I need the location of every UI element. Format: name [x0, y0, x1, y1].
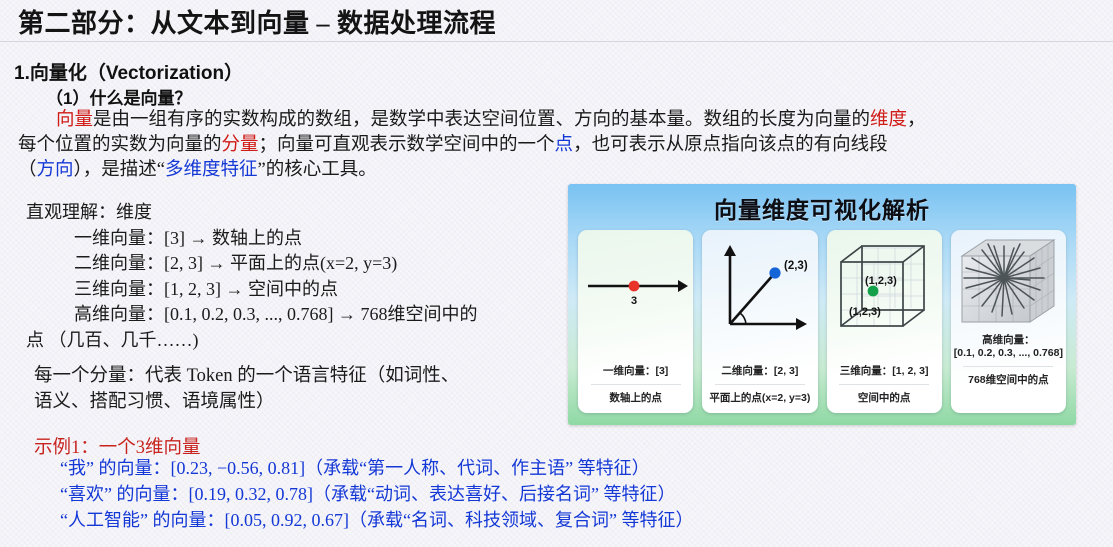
- page-title: 第二部分：从文本到向量 – 数据处理流程: [18, 3, 496, 40]
- definition-line-2: 每个位置的实数为向量的分量；向量可直观表示数学空间中的一个点，也可表示从原点指向…: [18, 133, 1103, 158]
- list-item: 高维向量：[0.1, 0.2, 0.3, ..., 0.768] → 768维空…: [26, 302, 556, 328]
- two-d-axes-icon: (2,3): [702, 230, 817, 342]
- card-sub-label: 平面上的点(x=2, y=3): [706, 390, 813, 405]
- card-divider: [591, 384, 681, 385]
- section-subheading-what-is-vector: （1）什么是向量？: [46, 84, 191, 109]
- term-dimension: 维度: [870, 110, 907, 130]
- figure-card-highdim: 高维向量： [0.1, 0.2, 0.3, ..., 0.768] 768维空间…: [951, 230, 1066, 413]
- definition-text-8: ”的核心工具。: [258, 160, 377, 180]
- term-component: 分量: [222, 135, 259, 155]
- intuitive-understanding-block: 直观理解：维度 一维向量：[3] → 数轴上的点 二维向量：[2, 3] → 平…: [26, 200, 556, 353]
- card-label: 一维向量：[3]: [600, 365, 671, 378]
- definition-text-6: （: [18, 160, 37, 180]
- card-label: 高维向量： [0.1, 0.2, 0.3, ..., 0.768]: [951, 334, 1066, 360]
- component-line-2: 语义、搭配习惯、语境属性）: [34, 389, 554, 415]
- card-divider: [839, 384, 929, 385]
- component-meaning-block: 每一个分量：代表 Token 的一个语言特征（如词性、 语义、搭配习惯、语境属性…: [34, 363, 554, 415]
- slide-root: 第二部分：从文本到向量 – 数据处理流程 1.向量化（Vectorization…: [0, 0, 1113, 547]
- card-label-line1: 高维向量：: [982, 334, 1035, 346]
- component-line-1: 每一个分量：代表 Token 的一个语言特征（如词性、: [34, 363, 554, 389]
- definition-text-2: ，: [907, 110, 926, 130]
- intuitive-wrap-tail: 点 （几百、几千……): [26, 328, 556, 354]
- list-item: “我” 的向量：[0.23, −0.56, 0.81]（承载“第一人称、代词、作…: [60, 455, 1100, 481]
- figure-card-row: 3 一维向量：[3] 数轴上的点: [578, 230, 1066, 413]
- card-divider: [715, 384, 805, 385]
- card-label-line2: [0.1, 0.2, 0.3, ..., 0.768]: [954, 347, 1063, 359]
- card-label: 二维向量：[2, 3]: [718, 365, 801, 378]
- term-point: 点: [555, 135, 574, 155]
- example-vector-list: “我” 的向量：[0.23, −0.56, 0.81]（承载“第一人称、代词、作…: [60, 455, 1100, 533]
- section-heading-vectorization: 1.向量化（Vectorization）: [14, 58, 243, 85]
- three-d-cube-icon: (1,2,3) (1,2,3): [827, 230, 942, 342]
- figure-card-3d: (1,2,3) (1,2,3) 三维向量：[1, 2, 3] 空间中的点: [827, 230, 942, 413]
- card-divider: [963, 366, 1053, 367]
- definition-text-4: ；向量可直观表示数学空间中的一个: [259, 135, 555, 155]
- definition-paragraph: 向量是由一组有序的实数构成的数组，是数学中表达空间位置、方向的基本量。数组的长度…: [18, 108, 1103, 183]
- figure-title: 向量维度可视化解析: [568, 191, 1076, 225]
- definition-line-3: （方向），是描述“多维度特征”的核心工具。: [18, 158, 1103, 183]
- title-divider: [0, 41, 1113, 42]
- definition-text-1: 是由一组有序的实数构成的数组，是数学中表达空间位置、方向的基本量。数组的长度为向…: [93, 110, 870, 130]
- list-item: “喜欢” 的向量：[0.19, 0.32, 0.78]（承载“动词、表达喜好、后…: [60, 481, 1100, 507]
- hyperdimensional-burst-icon: [951, 230, 1066, 334]
- figure-card-2d: (2,3) 二维向量：[2, 3] 平面上的点(x=2, y=3): [702, 230, 817, 413]
- list-item: 一维向量：[3] → 数轴上的点: [26, 226, 556, 252]
- definition-text-7: ），是描述“: [74, 160, 165, 180]
- svg-text:3: 3: [631, 295, 637, 307]
- figure-card-1d: 3 一维向量：[3] 数轴上的点: [578, 230, 693, 413]
- card-sub-label: 空间中的点: [855, 390, 914, 405]
- svg-text:(1,2,3): (1,2,3): [865, 275, 897, 287]
- term-vector: 向量: [56, 110, 93, 130]
- card-sub-label: 768维空间中的点: [965, 372, 1052, 387]
- svg-text:(2,3): (2,3): [784, 260, 808, 272]
- list-item: 二维向量：[2, 3] → 平面上的点(x=2, y=3): [26, 251, 556, 277]
- definition-text-5: ，也可表示从原点指向该点的有向线段: [573, 135, 888, 155]
- number-line-icon: 3: [578, 230, 693, 342]
- card-sub-label: 数轴上的点: [606, 390, 665, 405]
- list-item: “人工智能” 的向量：[0.05, 0.92, 0.67]（承载“名词、科技领域…: [60, 507, 1100, 533]
- definition-text-3: 每个位置的实数为向量的: [18, 135, 222, 155]
- card-label: 三维向量：[1, 2, 3]: [837, 365, 932, 378]
- term-multidimensional-feature: 多维度特征: [165, 160, 258, 180]
- term-direction: 方向: [37, 160, 74, 180]
- intuitive-heading: 直观理解：维度: [26, 200, 556, 226]
- vector-dimension-figure: 向量维度可视化解析 3 一维向量：[3] 数轴上的点: [568, 184, 1076, 425]
- svg-text:(1,2,3): (1,2,3): [849, 306, 881, 318]
- list-item: 三维向量：[1, 2, 3] → 空间中的点: [26, 277, 556, 303]
